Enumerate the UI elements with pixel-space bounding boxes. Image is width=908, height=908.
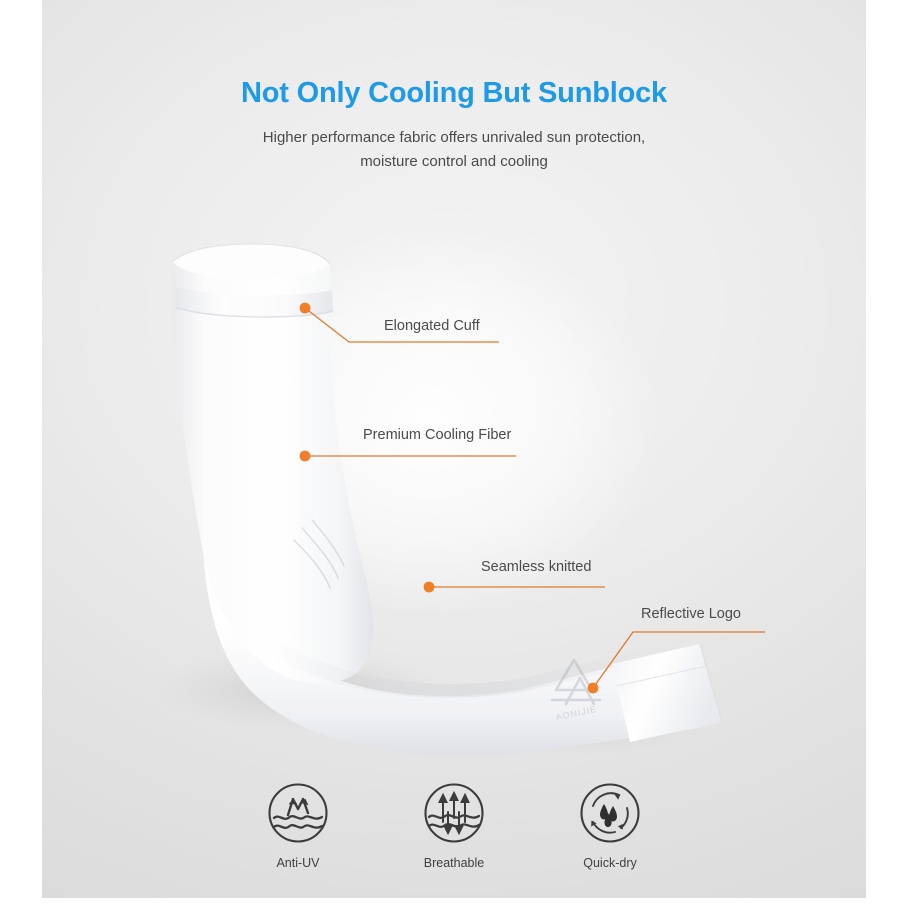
product-feature-page: Not Only Cooling But Sunblock Higher per…	[0, 0, 908, 908]
feature-breathable: Breathable	[399, 782, 509, 870]
callout-label-seamless-knitted: Seamless knitted	[481, 560, 591, 575]
uv-rays-over-waves-icon	[267, 782, 329, 844]
feature-quick-dry: Quick-dry	[555, 782, 665, 870]
subtitle-line-1: Higher performance fabric offers unrival…	[42, 126, 866, 150]
callout-label-elongated-cuff: Elongated Cuff	[384, 319, 480, 334]
feature-label-anti-uv: Anti-UV	[276, 856, 319, 870]
subtitle-line-2: moisture control and cooling	[42, 150, 866, 174]
page-subtitle: Higher performance fabric offers unrival…	[42, 126, 866, 175]
callout-label-premium-cooling-fiber: Premium Cooling Fiber	[363, 428, 511, 443]
feature-label-breathable: Breathable	[424, 856, 484, 870]
header: Not Only Cooling But Sunblock Higher per…	[42, 78, 866, 174]
feature-badges: Anti-UV	[42, 782, 866, 870]
airflow-arrows-icon	[423, 782, 485, 844]
water-droplets-cycle-icon	[579, 782, 641, 844]
feature-anti-uv: Anti-UV	[243, 782, 353, 870]
callout-label-reflective-logo: Reflective Logo	[641, 607, 741, 622]
feature-label-quick-dry: Quick-dry	[583, 856, 636, 870]
page-title: Not Only Cooling But Sunblock	[42, 78, 866, 110]
